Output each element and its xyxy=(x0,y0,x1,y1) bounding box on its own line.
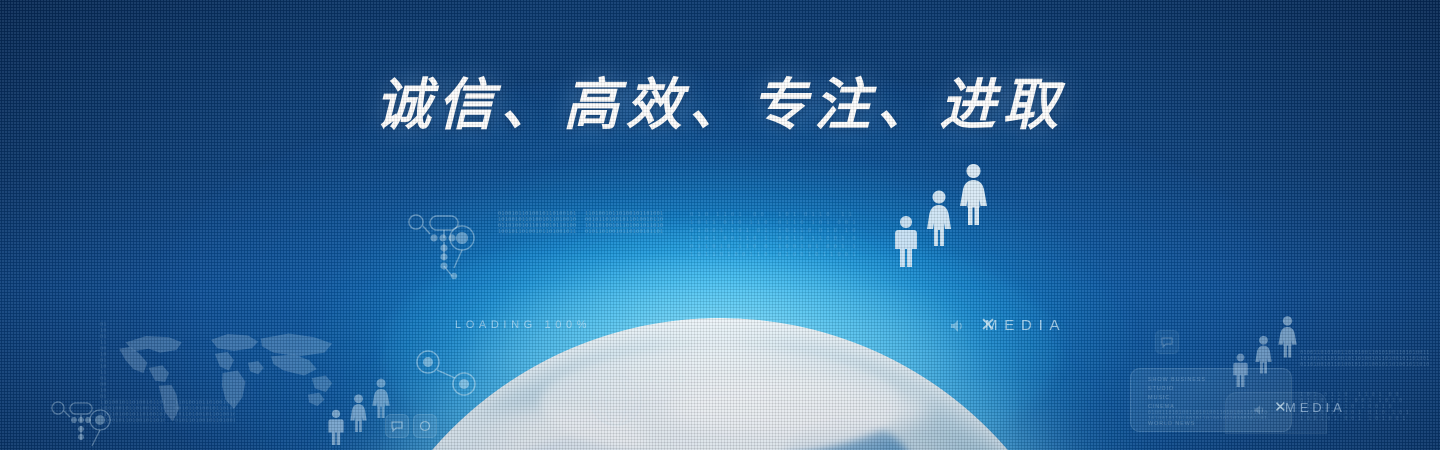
chat-bubble-icon xyxy=(413,414,437,438)
binary-block: 0100101101001011010010110100101101001011… xyxy=(498,211,576,269)
pedestal-panel xyxy=(1225,392,1327,434)
info-panel-line-0: SHOW BUSINESS xyxy=(1148,376,1206,384)
person-male-icon xyxy=(893,215,919,267)
media-label: MEDIA xyxy=(985,317,1066,334)
info-panel-line-1: STUDIO xyxy=(1148,385,1174,393)
binary-block: 0100101101001011010010110100101101001011… xyxy=(105,400,165,445)
person-female-icon xyxy=(925,190,953,246)
hero-banner: WORLD MEDIA NEWS 诚信、高效、专注、进取 xyxy=(0,0,1440,450)
network-node-icon xyxy=(414,348,480,398)
info-panel-line-4: WORLD NEWS xyxy=(1148,420,1195,428)
binary-block: 1 0 1 0 1 1 0 1 1 0 1 0 0 0 1 1 0 1 0 1 … xyxy=(778,211,856,269)
person-male-icon xyxy=(327,408,345,446)
chat-bubble-icon xyxy=(385,414,409,438)
info-panel-line-2: MUSIC xyxy=(1148,394,1170,402)
binary-block: 0100110101001101010011010100110101001101… xyxy=(1300,350,1430,390)
chat-bubble-icon xyxy=(1155,330,1179,354)
loading-label: LOADING 100% xyxy=(455,319,591,331)
binary-block: 0 1 0 1 1 0 1 0 0 1 0 1 1 1 0 1 1 0 1 0 … xyxy=(690,211,768,269)
page-title: 诚信、高效、专注、进取 xyxy=(0,60,1440,141)
person-female-icon xyxy=(958,163,989,225)
speaker-icon xyxy=(950,319,966,333)
binary-block: 1101001011010010110100101101001011010010… xyxy=(175,400,235,445)
network-node-icon xyxy=(404,208,480,286)
person-female-icon xyxy=(1277,314,1298,359)
person-female-icon xyxy=(349,392,368,434)
binary-block: 1101001011010010110100101101001011010010… xyxy=(585,211,663,269)
